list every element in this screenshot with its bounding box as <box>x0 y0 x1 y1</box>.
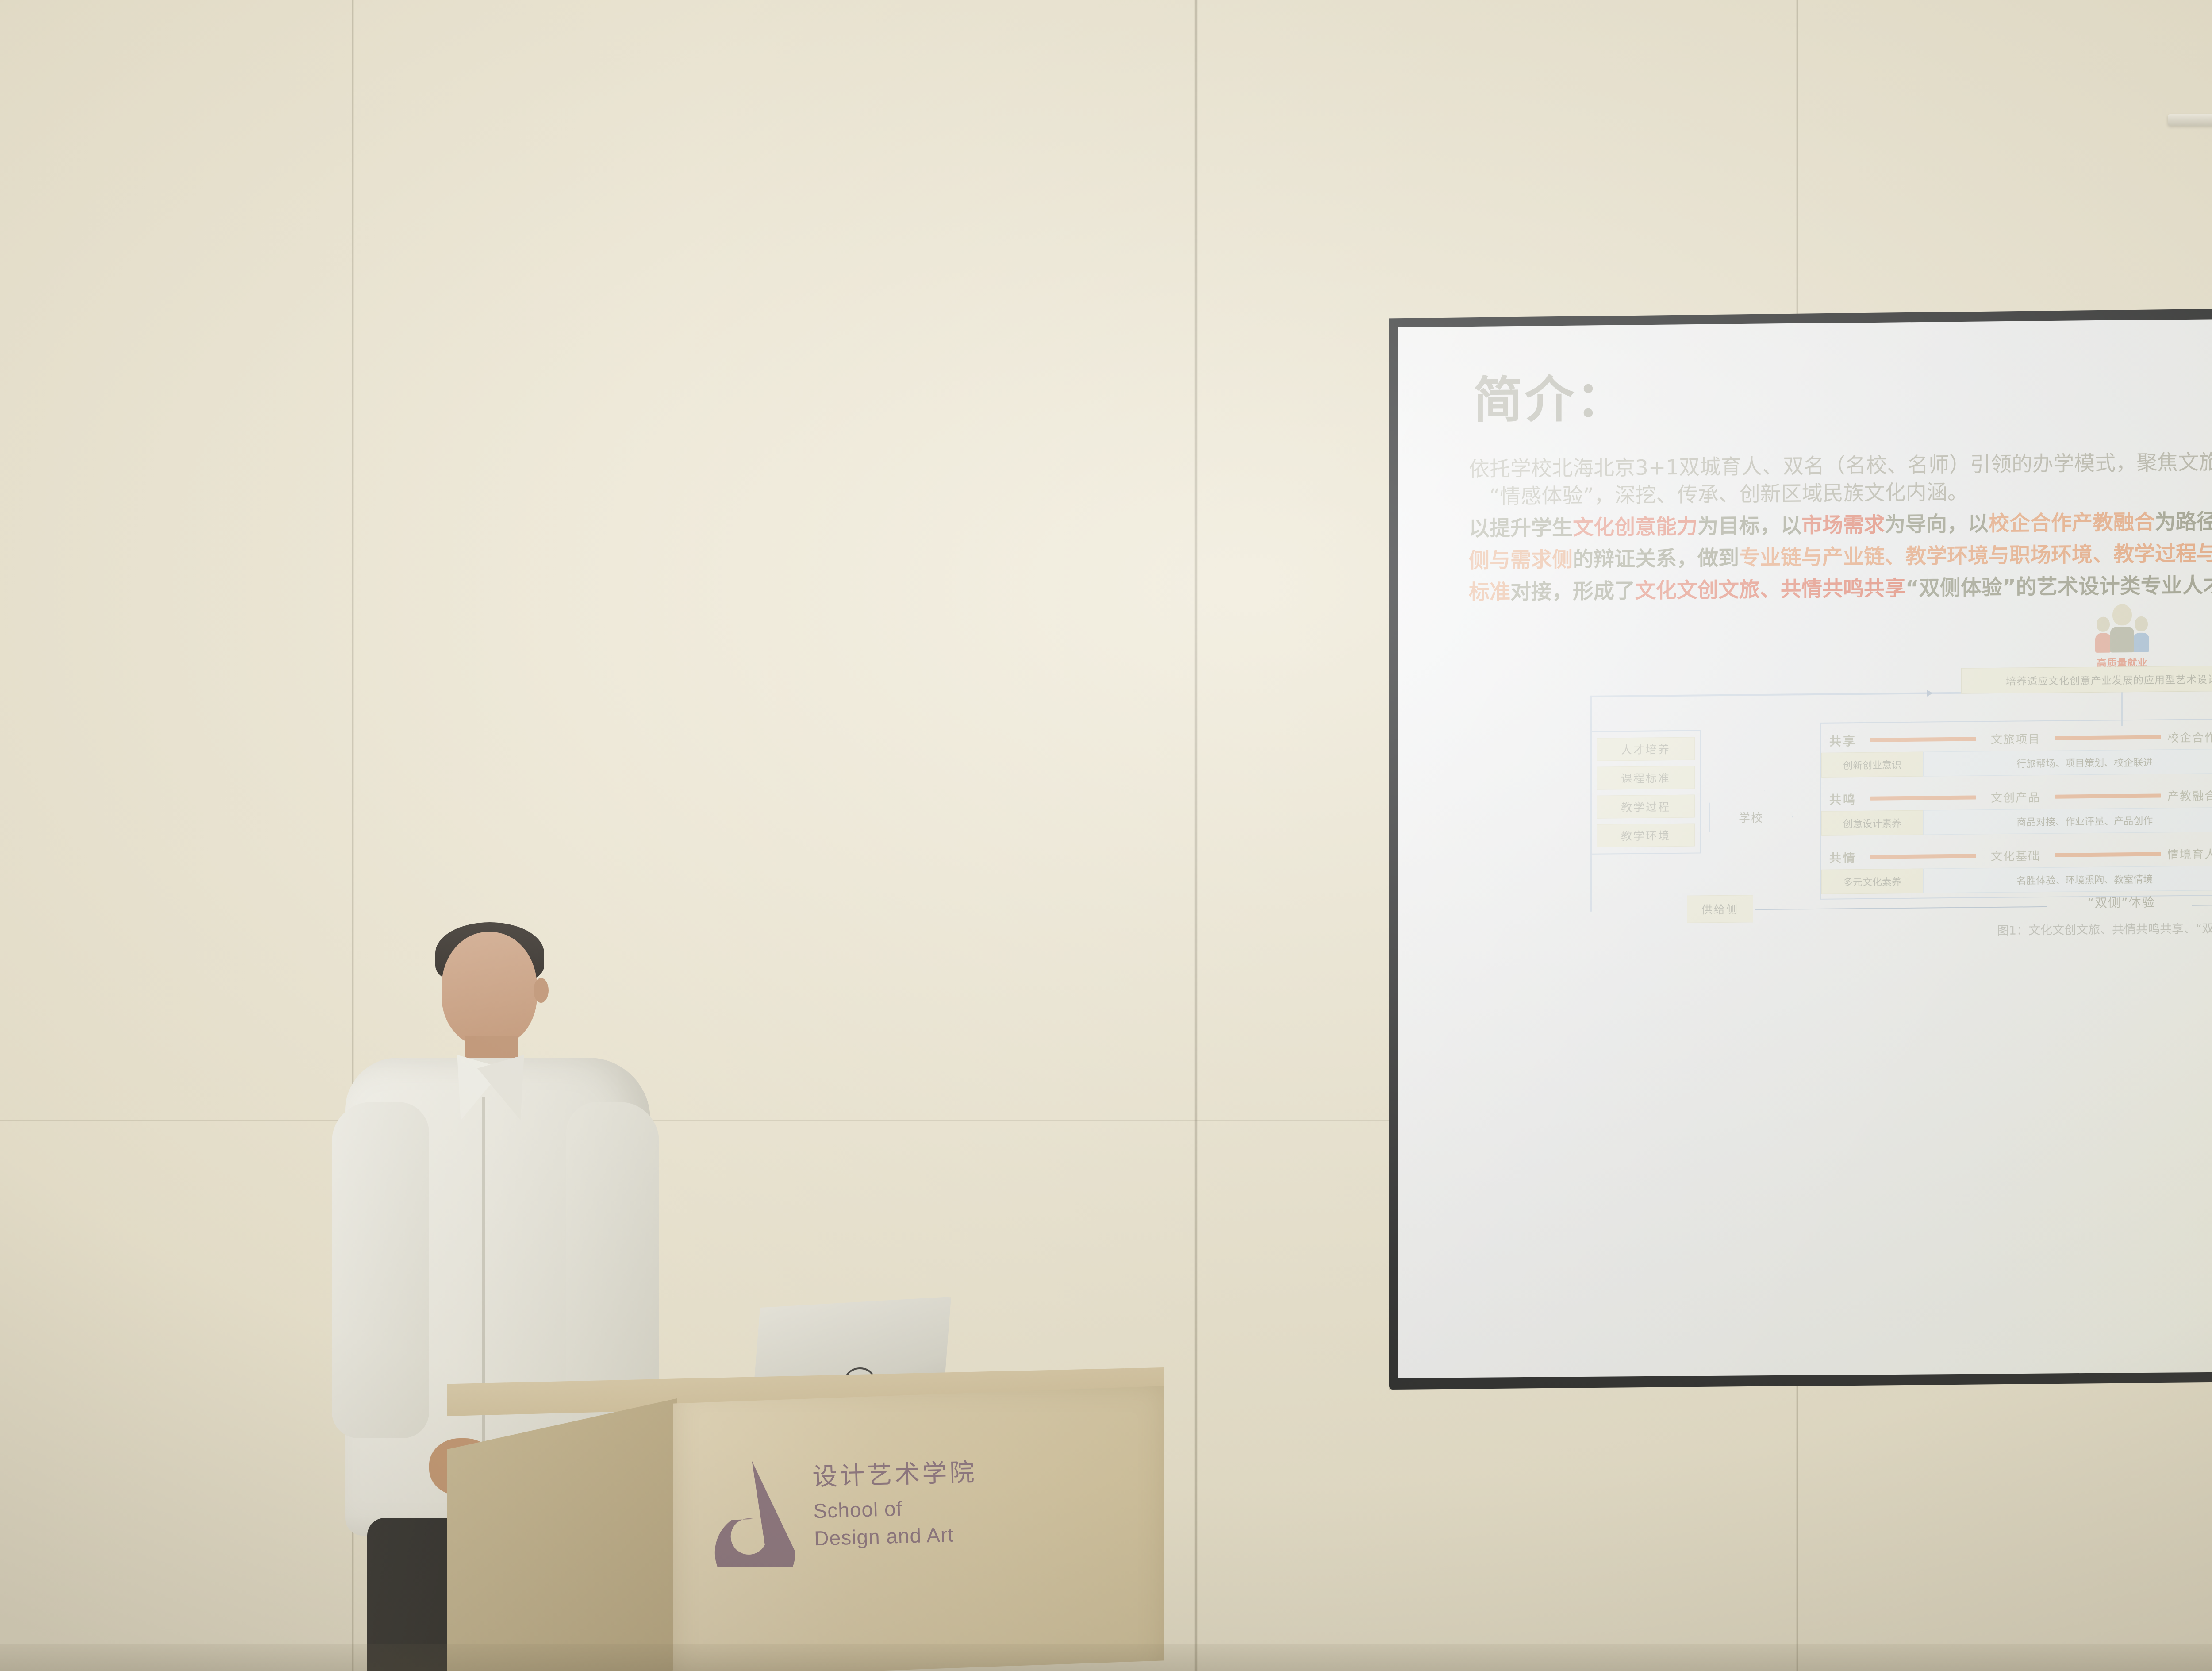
connector-bar <box>1870 854 1976 859</box>
floor <box>0 1644 2212 1671</box>
figure-caption: 图1：文化文创文旅、共情共鸣共享、“双侧体验”的艺术设计人才培养模式 <box>1816 916 2212 940</box>
row-header: 共享 文旅项目 校企合作 <box>1821 723 2212 751</box>
row-cell: 创意设计素养 <box>1821 810 1923 836</box>
presenter-arm <box>332 1102 429 1438</box>
diagram-row: 共鸣 文创产品 产教融合 创意设计素养 商品对接、作业评量、产品创作 创意设 <box>1821 782 2212 841</box>
supply-side-label: 供给侧 <box>1687 895 1753 923</box>
presenter-ear <box>534 978 549 1003</box>
row-label: 共鸣 <box>1829 790 1864 808</box>
connector-line <box>2192 901 2212 906</box>
text-run: 为路径，正确处理人才市场的供给 <box>2155 507 2212 535</box>
diagram-row: 共情 文化基础 情境育人 多元文化素养 名胜体验、环境熏陶、教室情境 文化分 <box>1821 840 2212 900</box>
text-run: 以提升学生 <box>1469 516 1573 541</box>
talent-model-diagram: 高质量就业 培养适应文化创意产业发展的应用型艺术设计人才 人才培养 课程标准 教… <box>1590 604 2212 934</box>
row-cell: 行旅帮场、项目策划、校企联进 <box>1923 749 2212 777</box>
school-cell: 人才培养 <box>1597 737 1695 761</box>
lectern-text-block: 设计艺术学院 School of Design and Art <box>812 1448 1142 1551</box>
row-end-label: 产教融合 <box>2167 787 2212 804</box>
row-cell: 商品对接、作业评量、产品创作 <box>1923 807 2212 835</box>
lectern-school-name-cn: 设计艺术学院 <box>812 1448 1140 1493</box>
three-people-icon <box>2082 610 2162 653</box>
text-run: 的辩证关系，做到 <box>1573 546 1739 572</box>
lectern-school-name-en-line1: School of <box>813 1490 1141 1523</box>
text-run: 为目标，以 <box>1697 513 1801 539</box>
connector-bar <box>1870 737 1976 742</box>
school-arrow-label: 学校 <box>1739 809 1763 826</box>
design-art-academy-logo-icon <box>701 1457 803 1567</box>
experience-panel: 共享 文旅项目 校企合作 创新创业意识 行旅帮场、项目策划、校企联进 创新创 <box>1820 716 2212 900</box>
person-icon <box>2095 617 2111 653</box>
text-run: 对接，形成了 <box>1510 579 1635 604</box>
row-cell: 名胜体验、环境熏陶、教室情境 <box>1923 866 2212 893</box>
row-header: 共情 文化基础 情境育人 <box>1821 840 2212 868</box>
lectern-branding: 设计艺术学院 School of Design and Art <box>695 1434 1146 1584</box>
school-cell: 教学过程 <box>1597 795 1695 819</box>
room-scene: 简介： 依托学校北海北京3+1双城育人、双名（名校、名师）引领的办学模式，聚焦文… <box>0 0 2212 1671</box>
connector-bar <box>2055 793 2161 798</box>
row-mid-label: 文创产品 <box>1982 789 2049 805</box>
display-screen[interactable]: 简介： 依托学校北海北京3+1双城育人、双名（名校、名师）引领的办学模式，聚焦文… <box>1398 312 2212 1378</box>
row-label: 共享 <box>1829 732 1864 749</box>
wall-display[interactable]: 简介： 依托学校北海北京3+1双城育人、双名（名校、名师）引领的办学模式，聚焦文… <box>1389 301 2212 1390</box>
school-cell: 教学环境 <box>1597 824 1695 847</box>
row-mid-label: 文化基础 <box>1982 847 2049 864</box>
connector-line <box>1755 906 2047 910</box>
row-cells: 创意设计素养 商品对接、作业评量、产品创作 创意设计能力、实践动手能力 <box>1821 805 2212 836</box>
person-icon <box>2133 616 2149 652</box>
row-end-label: 校企合作 <box>2167 728 2212 745</box>
text-run-highlight: 专业链与产业链、教学环境与职场环境、教学过程与工作过程、课程内容与行业 <box>1739 539 2212 570</box>
arrow-icon <box>1927 690 1933 697</box>
lectern-school-name-en-line2: Design and Art <box>814 1517 1142 1551</box>
lectern-side-panel <box>447 1398 677 1671</box>
double-experience-label: “双侧”体验 <box>2055 893 2188 912</box>
row-cells: 创新创业意识 行旅帮场、项目策划、校企联进 创新创业能力、职业发展能力 <box>1821 746 2212 778</box>
row-cell: 多元文化素养 <box>1821 869 1923 894</box>
slide-title: 简介： <box>1473 347 2212 432</box>
presenter-arm <box>566 1102 659 1412</box>
school-side-column: 人才培养 课程标准 教学过程 教学环境 <box>1590 730 1701 855</box>
text-run: “双侧体验”的艺术设计类专业人才培养模式（如图1）。 <box>1905 571 2212 601</box>
presenter-head <box>442 932 537 1046</box>
school-cell: 课程标准 <box>1597 766 1695 790</box>
text-run-highlight: 侧与需求侧 <box>1469 547 1573 573</box>
connector-bar <box>1870 795 1976 800</box>
text-run-highlight: 市场需求 <box>1801 513 1885 538</box>
text-run-highlight: 校企合作产教融合 <box>1989 510 2155 536</box>
presentation-slide: 简介： 依托学校北海北京3+1双城育人、双名（名校、名师）引领的办学模式，聚焦文… <box>1398 312 2212 1378</box>
text-run-highlight: 文化创意能力 <box>1573 515 1697 540</box>
row-label: 共情 <box>1829 848 1864 866</box>
row-cell: 创新创业意识 <box>1821 752 1923 778</box>
goal-box: 培养适应文化创意产业发展的应用型艺术设计人才 <box>1961 665 2212 694</box>
graduates-icon-group: 高质量就业 <box>2082 610 2162 670</box>
connector-bar <box>2055 852 2161 857</box>
ceiling-sensor-icon <box>2168 114 2212 126</box>
wall-seam <box>1194 0 1198 1671</box>
row-end-label: 情境育人 <box>2167 845 2212 862</box>
row-cells: 多元文化素养 名胜体验、环境熏陶、教室情境 文化分析能力、审美鉴赏能力 <box>1821 863 2212 894</box>
connector-bar <box>2055 735 2161 740</box>
text-run-highlight: 标准 <box>1469 580 1510 605</box>
row-mid-label: 文旅项目 <box>1982 730 2049 747</box>
slide-body: 依托学校北海北京3+1双城育人、双名（名校、名师）引领的办学模式，聚焦文旅产业发… <box>1469 443 2212 935</box>
row-header: 共鸣 文创产品 产教融合 <box>1821 782 2212 809</box>
text-run: 为导向，以 <box>1885 512 1989 537</box>
text-run-highlight: 文化文创文旅、共情共鸣共享 <box>1635 576 1905 603</box>
school-arrow: 学校 <box>1709 790 1793 844</box>
lectern: 设计艺术学院 School of Design and Art <box>447 1367 1164 1671</box>
diagram-row: 共享 文旅项目 校企合作 创新创业意识 行旅帮场、项目策划、校企联进 创新创 <box>1821 723 2212 783</box>
person-icon <box>2110 604 2134 653</box>
